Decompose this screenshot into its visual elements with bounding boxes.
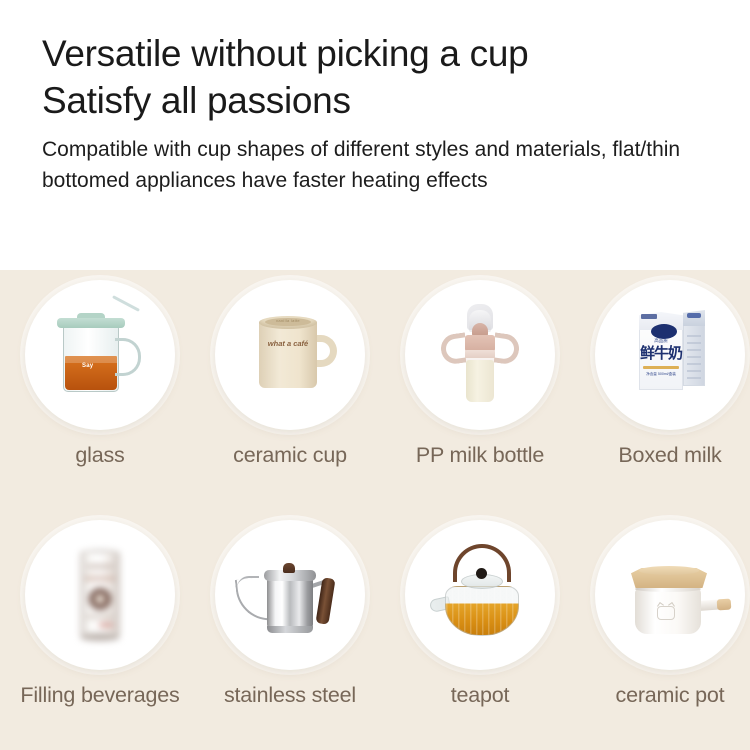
item-label-boxed-milk: Boxed milk — [618, 443, 721, 468]
item-label-glass: glass — [75, 443, 124, 468]
ceramic-mug-inner-text: vanilla latte — [265, 318, 311, 323]
title-line-2: Satisfy all passions — [42, 77, 708, 124]
milk-carton-icon: 高品质 鲜牛奶 净含量 500ml/盒装 — [595, 280, 745, 430]
grid-item-glass[interactable]: Say glass — [5, 270, 195, 510]
grid-item-ceramic-cup[interactable]: vanilla latte what a café ceramic cup — [195, 270, 385, 510]
item-label-ceramic-pot: ceramic pot — [616, 683, 725, 708]
grid-item-stainless-steel[interactable]: stainless steel — [195, 510, 385, 750]
item-label-teapot: teapot — [451, 683, 510, 708]
product-circle — [405, 280, 555, 430]
item-label-pp-milk-bottle: PP milk bottle — [416, 443, 544, 468]
ceramic-milk-pot-icon — [595, 520, 745, 670]
grid-item-filling-beverages[interactable]: Filling beverages — [5, 510, 195, 750]
title-line-1: Versatile without picking a cup — [42, 30, 708, 77]
product-circle — [25, 520, 175, 670]
product-circle — [215, 520, 365, 670]
product-circle: Say — [25, 280, 175, 430]
baby-bottle-icon — [405, 280, 555, 430]
item-label-stainless-steel: stainless steel — [224, 683, 356, 708]
product-circle: 高品质 鲜牛奶 净含量 500ml/盒装 — [595, 280, 745, 430]
glass-teapot-icon — [405, 520, 555, 670]
gooseneck-kettle-icon — [215, 520, 365, 670]
glass-mug-icon: Say — [25, 280, 175, 430]
ceramic-mug-icon: vanilla latte what a café — [215, 280, 365, 430]
grid-item-ceramic-pot[interactable]: ceramic pot — [575, 510, 750, 750]
milk-carton-footer-text: 净含量 500ml/盒装 — [643, 372, 679, 377]
compatibility-grid: Say glass vanilla latte what a café — [0, 270, 750, 750]
item-label-filling-beverages: Filling beverages — [20, 683, 179, 708]
beverage-can-icon — [25, 520, 175, 670]
product-circle: vanilla latte what a café — [215, 280, 365, 430]
grid-item-teapot[interactable]: teapot — [385, 510, 575, 750]
header-section: Versatile without picking a cup Satisfy … — [0, 0, 750, 270]
product-circle — [595, 520, 745, 670]
grid-item-pp-milk-bottle[interactable]: PP milk bottle — [385, 270, 575, 510]
milk-carton-artwork-text: 鲜牛奶 — [639, 342, 683, 363]
grid-item-boxed-milk[interactable]: 高品质 鲜牛奶 净含量 500ml/盒装 Boxed milk — [575, 270, 750, 510]
grid-row-1: Say glass vanilla latte what a café — [0, 270, 750, 510]
grid-row-2: Filling beverages stainless steel — [0, 510, 750, 750]
ceramic-mug-artwork-text: what a café — [261, 339, 315, 348]
header-subtitle: Compatible with cup shapes of different … — [42, 134, 682, 197]
item-label-ceramic-cup: ceramic cup — [233, 443, 347, 468]
product-circle — [405, 520, 555, 670]
